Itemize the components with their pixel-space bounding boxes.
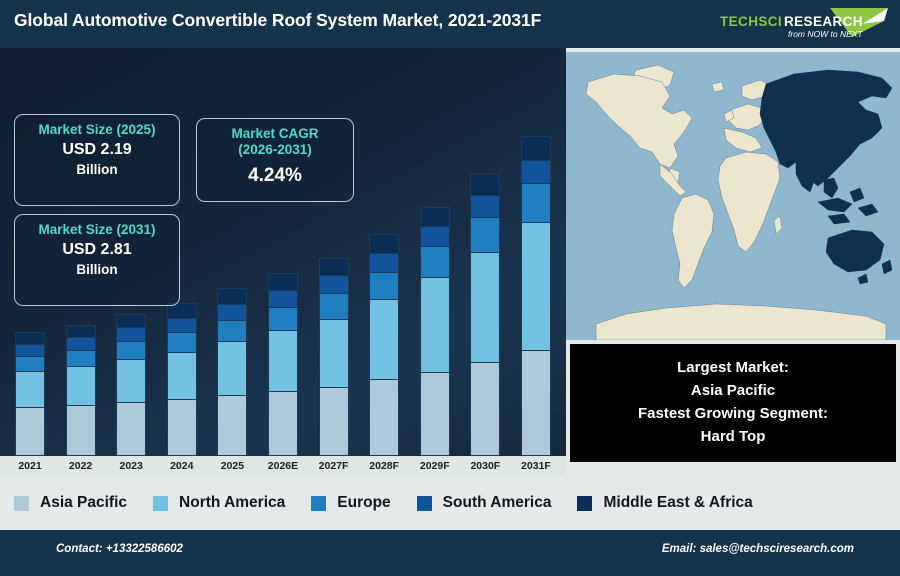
bar-segment xyxy=(521,160,551,184)
stacked-bar xyxy=(521,136,551,456)
bar-segment xyxy=(268,307,298,331)
bar-segment xyxy=(369,272,399,299)
bar-segment xyxy=(420,226,450,246)
legend-label: Middle East & Africa xyxy=(603,494,752,512)
bar-segment xyxy=(116,402,146,456)
world-map xyxy=(566,52,900,340)
x-axis-label: 2029F xyxy=(413,460,457,472)
bar-segment xyxy=(521,350,551,456)
stat-label: Market Size (2025) xyxy=(15,122,179,138)
bar-segment xyxy=(66,337,96,350)
bar-segment xyxy=(521,136,551,160)
legend-item[interactable]: Asia Pacific xyxy=(14,494,127,512)
stat-value: USD 2.19 xyxy=(15,138,179,161)
legend-label: South America xyxy=(443,494,552,512)
bar-segment xyxy=(167,318,197,333)
x-axis-label: 2027F xyxy=(312,460,356,472)
bar-segment xyxy=(167,399,197,456)
x-axis-label: 2026E xyxy=(261,460,305,472)
x-axis-label: 2030F xyxy=(463,460,507,472)
bar-column xyxy=(362,136,406,456)
bar-segment xyxy=(470,217,500,252)
stacked-bar xyxy=(470,173,500,456)
page-title: Global Automotive Convertible Roof Syste… xyxy=(14,10,541,31)
x-axis-label: 2023 xyxy=(109,460,153,472)
header-bar: Global Automotive Convertible Roof Syste… xyxy=(0,0,900,48)
stacked-bar xyxy=(420,207,450,456)
bar-segment xyxy=(167,352,197,399)
legend-item[interactable]: Europe xyxy=(311,494,390,512)
bar-segment xyxy=(15,332,45,344)
stacked-bar xyxy=(369,234,399,456)
bar-segment xyxy=(116,359,146,402)
bar-segment xyxy=(420,207,450,227)
legend-swatch-icon xyxy=(14,496,29,511)
bar-segment xyxy=(15,371,45,407)
bar-segment xyxy=(217,341,247,395)
bar-segment xyxy=(268,273,298,290)
info-box: Largest Market: Asia Pacific Fastest Gro… xyxy=(570,344,896,462)
bar-segment xyxy=(521,222,551,350)
stat-card-market-size-2025: Market Size (2025) USD 2.19 Billion xyxy=(14,114,180,206)
bar-segment xyxy=(369,234,399,253)
legend-label: Asia Pacific xyxy=(40,494,127,512)
stat-card-market-cagr: Market CAGR (2026-2031) 4.24% xyxy=(196,118,354,202)
bar-segment xyxy=(15,407,45,456)
x-axis-label: 2021 xyxy=(8,460,52,472)
bar-segment xyxy=(470,362,500,456)
x-axis-label: 2031F xyxy=(514,460,558,472)
stat-label: Market Size (2031) xyxy=(15,222,179,238)
bar-segment xyxy=(319,319,349,388)
bar-segment xyxy=(369,299,399,379)
bar-column xyxy=(514,136,558,456)
stacked-bar xyxy=(217,288,247,456)
bar-segment xyxy=(420,372,450,456)
chart-legend: Asia PacificNorth AmericaEuropeSouth Ame… xyxy=(0,476,900,530)
legend-item[interactable]: South America xyxy=(417,494,552,512)
x-axis-label: 2028F xyxy=(362,460,406,472)
bar-segment xyxy=(521,183,551,222)
footer-email: Email: sales@techsciresearch.com xyxy=(662,543,854,555)
bar-segment xyxy=(15,344,45,356)
x-axis-label: 2022 xyxy=(59,460,103,472)
stacked-bar xyxy=(167,303,197,456)
stacked-bar xyxy=(116,314,146,456)
svg-text:TECHSCI: TECHSCI xyxy=(720,14,782,29)
bar-segment xyxy=(319,258,349,276)
bar-segment xyxy=(66,405,96,456)
stacked-bar xyxy=(268,273,298,456)
info-line-fastest-segment-value: Hard Top xyxy=(701,426,766,449)
x-axis-label: 2025 xyxy=(210,460,254,472)
bar-segment xyxy=(268,391,298,456)
bar-segment xyxy=(66,325,96,338)
bar-segment xyxy=(15,356,45,371)
chart-panel: 202120222023202420252026E2027F2028F2029F… xyxy=(0,48,566,476)
legend-swatch-icon xyxy=(153,496,168,511)
bar-segment xyxy=(217,395,247,456)
bar-segment xyxy=(470,173,500,195)
bar-segment xyxy=(420,246,450,277)
stat-unit: Billion xyxy=(15,262,179,278)
legend-swatch-icon xyxy=(577,496,592,511)
stacked-bar xyxy=(319,258,349,456)
bar-segment xyxy=(167,332,197,352)
legend-swatch-icon xyxy=(417,496,432,511)
stat-label-line2: (2026-2031) xyxy=(197,142,353,158)
stat-card-market-size-2031: Market Size (2031) USD 2.81 Billion xyxy=(14,214,180,306)
bar-segment xyxy=(217,288,247,304)
bar-segment xyxy=(268,290,298,307)
bar-segment xyxy=(116,327,146,341)
x-axis-label: 2024 xyxy=(160,460,204,472)
bar-column xyxy=(463,136,507,456)
bar-segment xyxy=(319,293,349,319)
svg-text:RESEARCH: RESEARCH xyxy=(784,14,863,29)
bar-segment xyxy=(319,275,349,293)
info-line-largest-market-value: Asia Pacific xyxy=(691,380,775,403)
stacked-bar xyxy=(15,332,45,456)
bar-segment xyxy=(116,314,146,328)
bar-segment xyxy=(66,366,96,405)
legend-swatch-icon xyxy=(311,496,326,511)
bar-segment xyxy=(319,387,349,456)
legend-item[interactable]: North America xyxy=(153,494,285,512)
svg-text:from NOW to NEXT: from NOW to NEXT xyxy=(788,29,863,39)
bar-segment xyxy=(369,253,399,272)
bar-segment xyxy=(268,330,298,391)
stat-value: 4.24% xyxy=(197,159,353,190)
footer-bar: Contact: +13322586602 Email: sales@techs… xyxy=(0,530,900,576)
stat-value: USD 2.81 xyxy=(15,238,179,261)
legend-item[interactable]: Middle East & Africa xyxy=(577,494,752,512)
stat-unit: Billion xyxy=(15,162,179,178)
bar-segment xyxy=(420,277,450,371)
bar-segment xyxy=(217,304,247,320)
x-axis-labels: 202120222023202420252026E2027F2028F2029F… xyxy=(8,456,558,476)
bar-segment xyxy=(470,195,500,217)
infographic-page: Global Automotive Convertible Roof Syste… xyxy=(0,0,900,576)
legend-label: North America xyxy=(179,494,285,512)
bar-segment xyxy=(470,252,500,362)
bar-segment xyxy=(116,341,146,359)
bar-segment xyxy=(66,350,96,366)
footer-contact: Contact: +13322586602 xyxy=(56,543,183,555)
info-line-largest-market-label: Largest Market: xyxy=(677,357,789,380)
bar-segment xyxy=(217,320,247,342)
bar-column xyxy=(413,136,457,456)
stacked-bar xyxy=(66,325,96,456)
legend-label: Europe xyxy=(337,494,390,512)
info-line-fastest-segment-label: Fastest Growing Segment: xyxy=(638,403,828,426)
techsci-research-logo: TECHSCI RESEARCH from NOW to NEXT xyxy=(712,4,892,44)
stat-label-line1: Market CAGR xyxy=(197,126,353,142)
bar-segment xyxy=(369,379,399,456)
